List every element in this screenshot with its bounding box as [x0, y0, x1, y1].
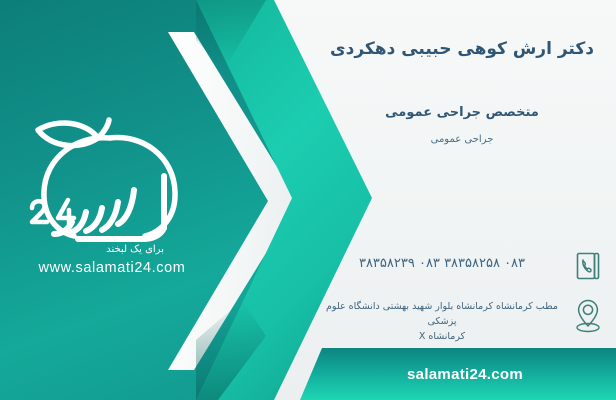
doctor-field: جراحی عمومی — [326, 134, 598, 145]
address-line-1: مطب کرمانشاه کرمانشاه بلوار شهید بهشتی د… — [316, 299, 568, 329]
address-row[interactable]: مطب کرمانشاه کرمانشاه بلوار شهید بهشتی د… — [316, 297, 608, 345]
map-pin-icon — [568, 297, 608, 334]
address-line-2: کرمانشاه X — [316, 329, 568, 344]
card-content: دکتر ارش کوهی حبیبی دهکردی متخصص جراحی ع… — [316, 0, 616, 400]
phone-book-icon — [568, 250, 608, 281]
doctor-specialty: متخصص جراحی عمومی — [326, 105, 598, 120]
doctor-name: دکتر ارش کوهی حبیبی دهکردی — [326, 38, 598, 60]
phone-numbers: ۰۸۳ ۳۸۳۵۸۲۵۸ ۰۸۳ ۳۸۳۵۸۲۳۹ — [316, 250, 568, 274]
footer-website[interactable]: salamati24.com — [300, 348, 616, 400]
business-card: برای یک لبخند www.salamati24.com دکتر ار… — [0, 0, 616, 400]
address-text: مطب کرمانشاه کرمانشاه بلوار شهید بهشتی د… — [316, 297, 568, 345]
footer-bar: salamati24.com — [300, 348, 616, 400]
phone-row[interactable]: ۰۸۳ ۳۸۳۵۸۲۵۸ ۰۸۳ ۳۸۳۵۸۲۳۹ — [316, 250, 608, 281]
